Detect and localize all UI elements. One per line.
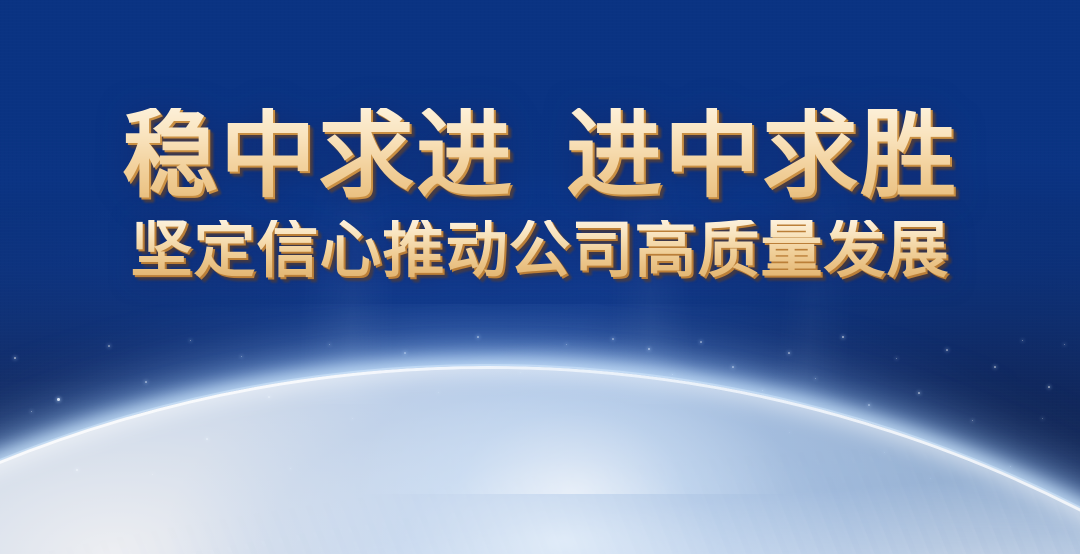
banner-poster: 稳中求进进中求胜 坚定信心推动公司高质量发展: [0, 0, 1080, 554]
headline: 稳中求进进中求胜: [0, 108, 1080, 204]
earth-from-space: [0, 304, 1080, 554]
slogan-block: 稳中求进进中求胜 坚定信心推动公司高质量发展: [0, 108, 1080, 282]
earth-atmosphere-rim: [0, 304, 1080, 554]
subheadline: 坚定信心推动公司高质量发展: [0, 220, 1080, 282]
headline-part1: 稳中求进: [122, 102, 514, 209]
headline-part2: 进中求胜: [566, 102, 958, 209]
